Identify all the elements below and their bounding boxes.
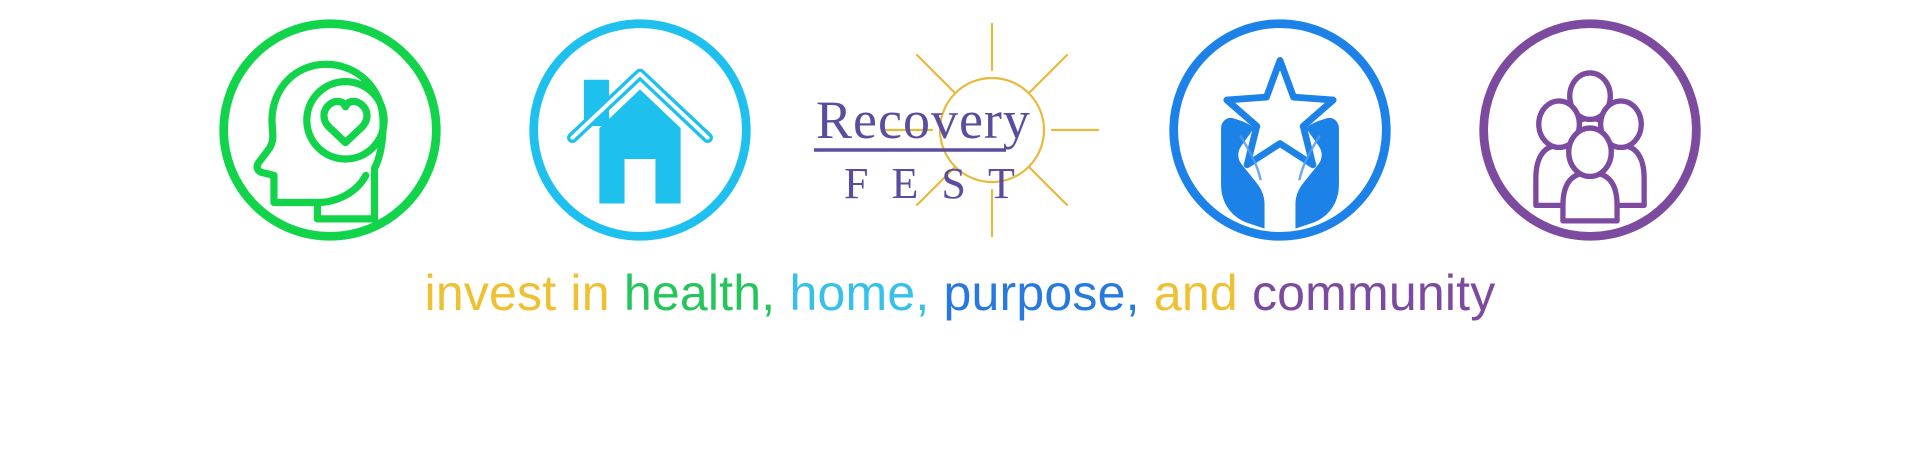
star-shape	[1227, 60, 1333, 164]
house-icon[interactable]	[524, 14, 756, 246]
logo-line-recovery: Recovery	[816, 90, 1031, 150]
hands-star-icon[interactable]	[1164, 14, 1396, 246]
tagline-community: community	[1252, 265, 1496, 321]
tagline-health: health,	[624, 265, 790, 321]
logo-line-fest: F E S T	[844, 159, 1021, 208]
tagline-and: and	[1154, 265, 1252, 321]
tagline-invest-in: invest in	[425, 265, 624, 321]
group-people-icon[interactable]	[1474, 14, 1706, 246]
logo-slot[interactable]: Recovery F E S T	[795, 0, 1125, 260]
icon-slot-home[interactable]	[485, 0, 795, 260]
icon-row: Recovery F E S T	[0, 0, 1920, 270]
icon-slot-purpose[interactable]	[1125, 0, 1435, 260]
icon-slot-community[interactable]	[1435, 0, 1745, 260]
recovery-fest-banner: Recovery F E S T	[0, 0, 1920, 451]
tagline-home: home,	[789, 265, 943, 321]
head-heart-icon[interactable]	[214, 14, 446, 246]
tagline-purpose: purpose,	[944, 265, 1154, 321]
icon-slot-health[interactable]	[175, 0, 485, 260]
tagline: invest in health, home, purpose, and com…	[0, 262, 1920, 325]
hands-shape	[1221, 118, 1339, 229]
people-shape	[1536, 73, 1644, 221]
recovery-fest-logo[interactable]: Recovery F E S T	[810, 14, 1110, 246]
